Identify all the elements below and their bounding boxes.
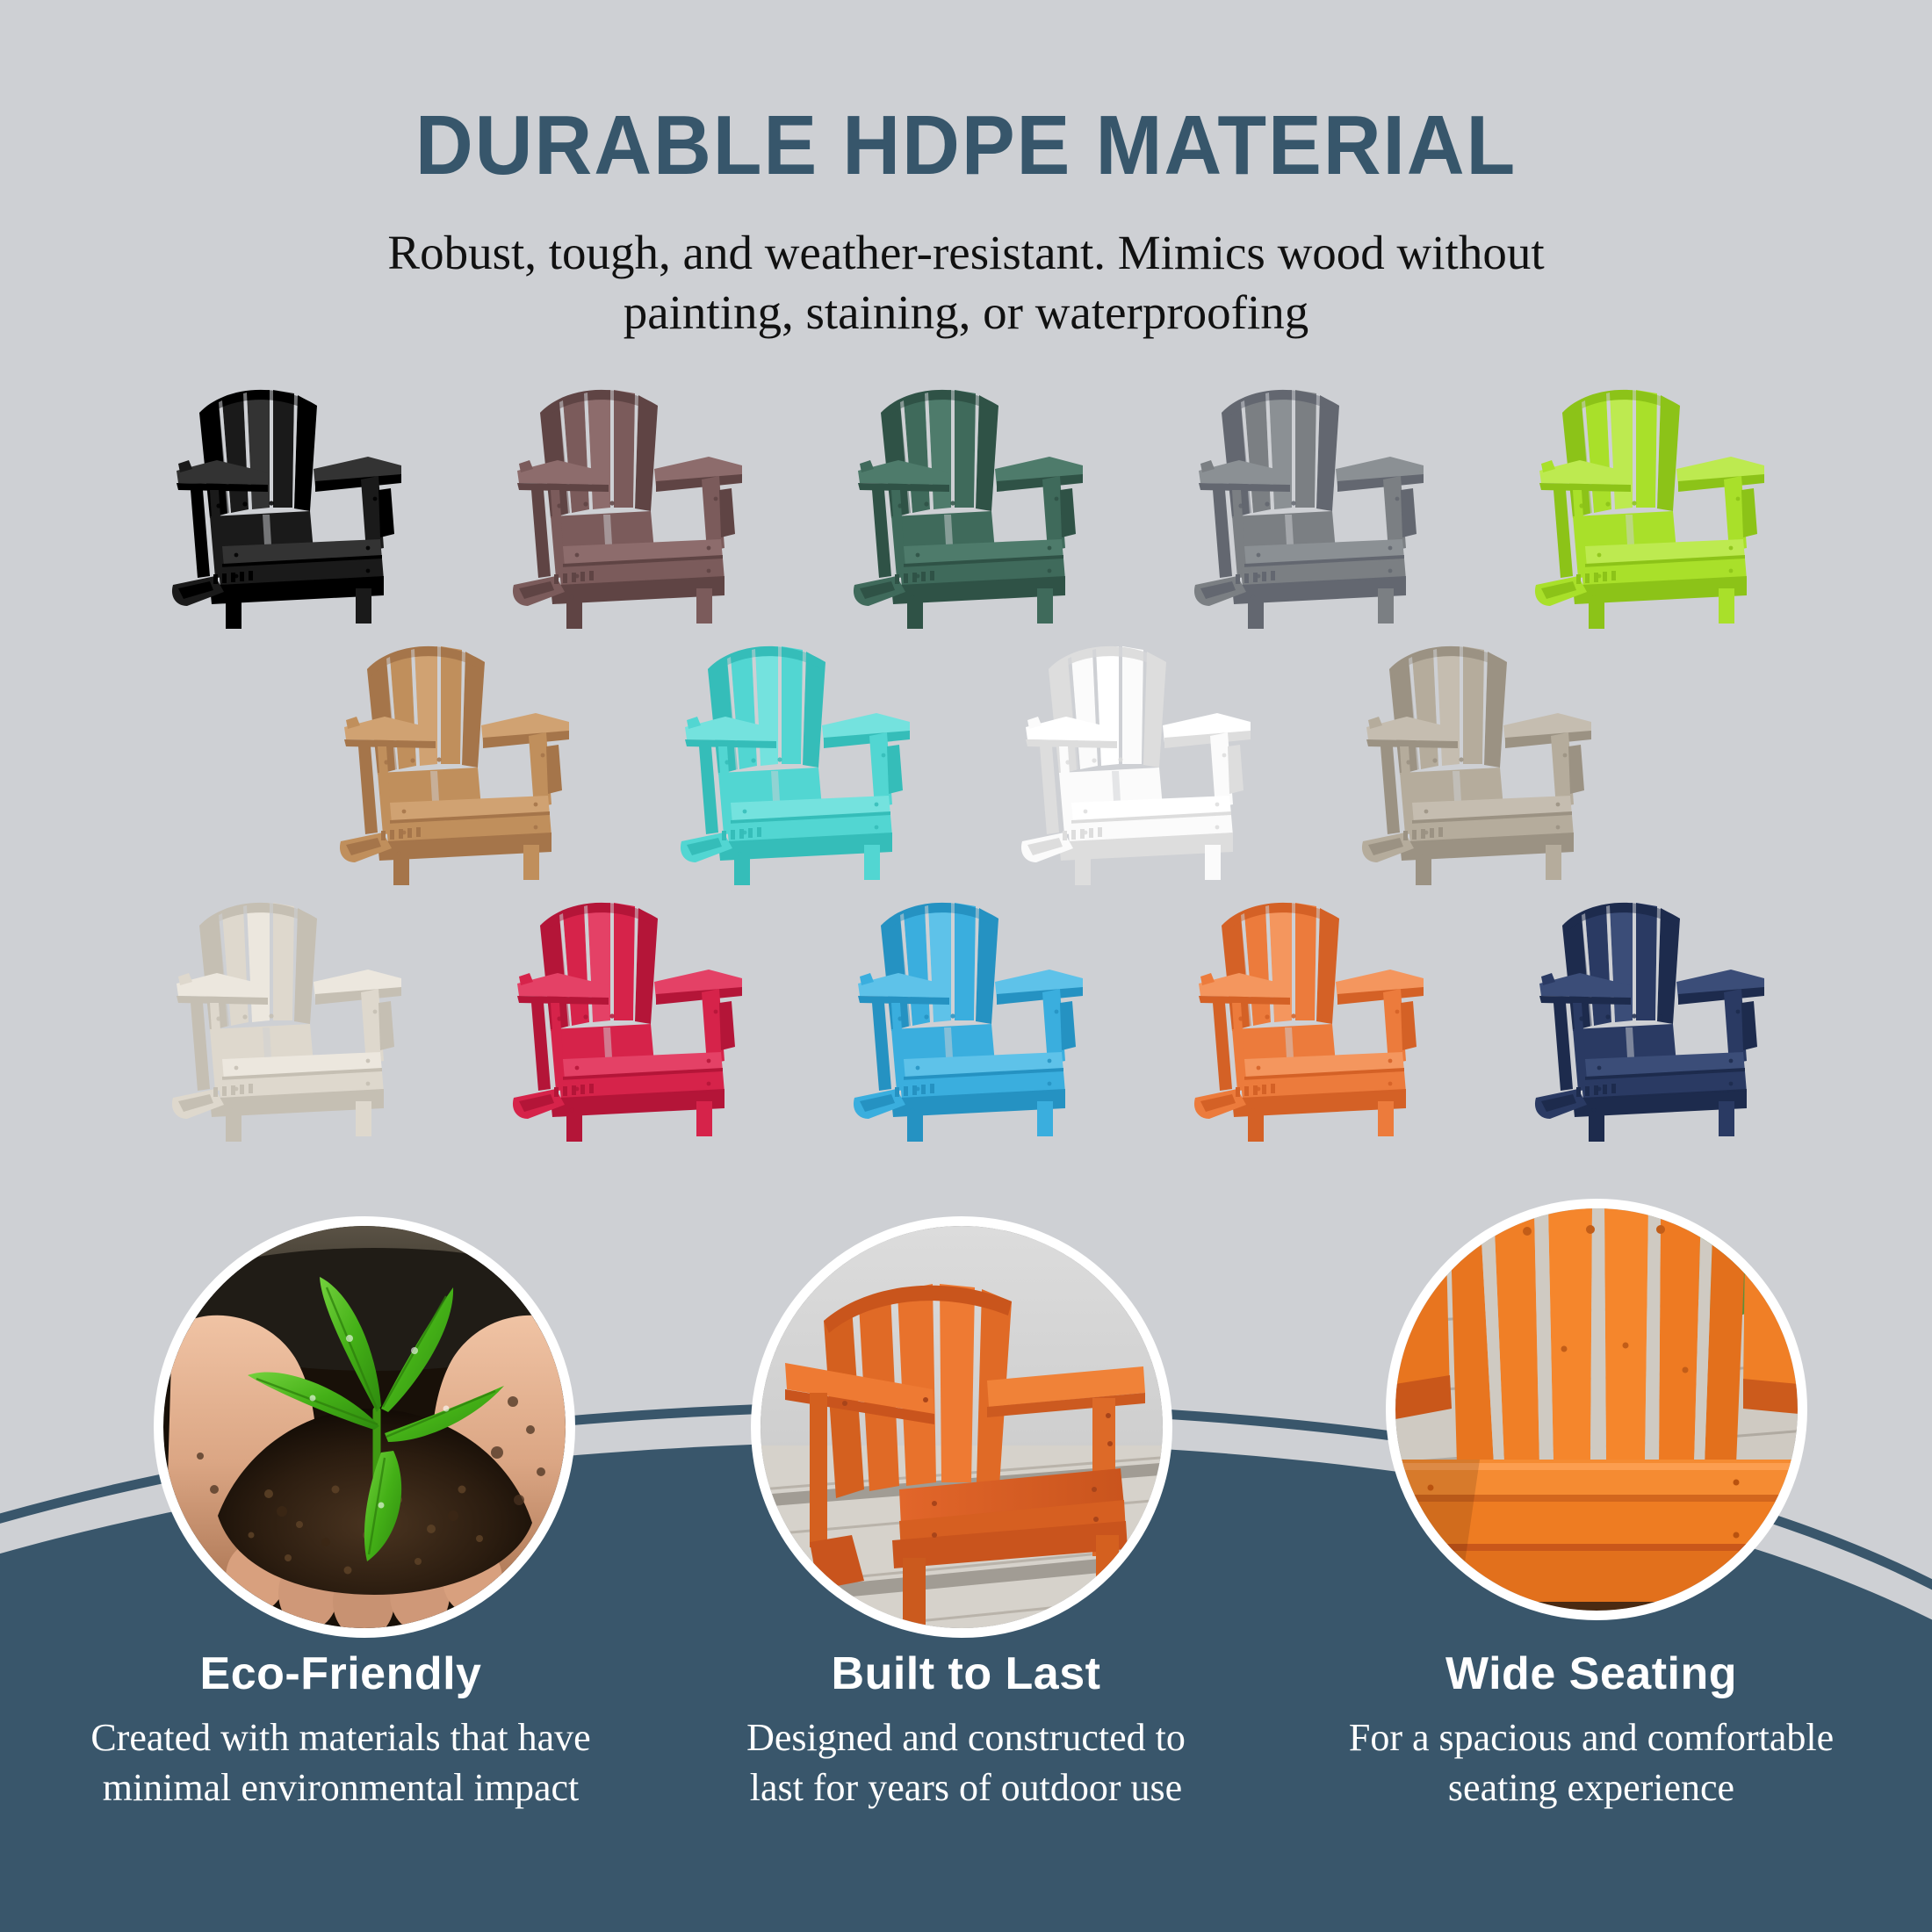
adirondack-chair-turquoise-icon bbox=[669, 615, 933, 887]
chair-swatch-ivory[interactable] bbox=[161, 871, 424, 1143]
chair-swatch-white[interactable] bbox=[1010, 615, 1273, 887]
chair-swatch-dark-green[interactable] bbox=[842, 358, 1106, 631]
infographic-canvas: DURABLE HDPE MATERIAL Robust, tough, and… bbox=[0, 0, 1932, 1932]
hands-holding-seedling-photo bbox=[163, 1226, 566, 1628]
orange-chair-wide-seat-closeup-photo bbox=[1395, 1208, 1798, 1611]
feature-photo-durability bbox=[751, 1216, 1172, 1638]
feature-eco-friendly: Eco-FriendlyCreated with materials that … bbox=[38, 1649, 644, 1813]
feature-title-wide-seating: Wide Seating bbox=[1288, 1649, 1894, 1699]
page-title: DURABLE HDPE MATERIAL bbox=[48, 0, 1884, 188]
adirondack-chair-dark-green-icon bbox=[842, 358, 1106, 631]
feature-desc-eco-friendly: Created with materials that haveminimal … bbox=[38, 1713, 644, 1813]
chair-swatch-black[interactable] bbox=[161, 358, 424, 631]
feature-text-row: Eco-FriendlyCreated with materials that … bbox=[0, 1642, 1932, 1932]
feature-desc-line-1: For a spacious and comfortable bbox=[1349, 1716, 1834, 1759]
adirondack-chair-lime-green-icon bbox=[1524, 358, 1787, 631]
adirondack-chair-teak-icon bbox=[328, 615, 592, 887]
chair-swatch-navy-blue[interactable] bbox=[1524, 871, 1787, 1143]
adirondack-chair-navy-blue-icon bbox=[1524, 871, 1787, 1143]
feature-desc-line-2: last for years of outdoor use bbox=[750, 1766, 1182, 1809]
chair-swatch-light-blue[interactable] bbox=[842, 871, 1106, 1143]
adirondack-chair-gray-icon bbox=[1183, 358, 1446, 631]
feature-photo-row bbox=[0, 1199, 1932, 1655]
chair-swatch-gray[interactable] bbox=[1183, 358, 1446, 631]
chair-swatch-red[interactable] bbox=[501, 871, 765, 1143]
feature-desc-wide-seating: For a spacious and comfortableseating ex… bbox=[1288, 1713, 1894, 1813]
feature-title-eco-friendly: Eco-Friendly bbox=[38, 1649, 644, 1699]
chair-swatch-taupe-gray[interactable] bbox=[1351, 615, 1614, 887]
feature-built-to-last: Built to LastDesigned and constructed to… bbox=[663, 1649, 1269, 1813]
chair-color-grid bbox=[0, 358, 1932, 1143]
subtitle-line-1: Robust, tough, and weather-resistant. Mi… bbox=[294, 223, 1638, 283]
adirondack-chair-taupe-gray-icon bbox=[1351, 615, 1614, 887]
feature-photo-wide-seat bbox=[1386, 1199, 1807, 1620]
feature-wide-seating: Wide SeatingFor a spacious and comfortab… bbox=[1288, 1649, 1894, 1813]
chair-swatch-turquoise[interactable] bbox=[669, 615, 933, 887]
feature-desc-line-2: minimal environmental impact bbox=[103, 1766, 580, 1809]
feature-desc-line-2: seating experience bbox=[1448, 1766, 1734, 1809]
adirondack-chair-brown-icon bbox=[501, 358, 765, 631]
chair-row-2 bbox=[11, 615, 1932, 887]
adirondack-chair-orange-icon bbox=[1183, 871, 1446, 1143]
feature-desc-built-to-last: Designed and constructed tolast for year… bbox=[663, 1713, 1269, 1813]
chair-swatch-teak[interactable] bbox=[328, 615, 592, 887]
adirondack-chair-black-icon bbox=[161, 358, 424, 631]
adirondack-chair-white-icon bbox=[1010, 615, 1273, 887]
orange-adirondack-chair-patio-photo bbox=[761, 1226, 1163, 1628]
subtitle-line-2: painting, staining, or waterproofing bbox=[294, 283, 1638, 342]
feature-title-built-to-last: Built to Last bbox=[663, 1649, 1269, 1699]
chair-swatch-lime-green[interactable] bbox=[1524, 358, 1787, 631]
chair-swatch-brown[interactable] bbox=[501, 358, 765, 631]
adirondack-chair-red-icon bbox=[501, 871, 765, 1143]
chair-swatch-orange[interactable] bbox=[1183, 871, 1446, 1143]
feature-desc-line-1: Created with materials that have bbox=[90, 1716, 590, 1759]
feature-desc-line-1: Designed and constructed to bbox=[746, 1716, 1186, 1759]
adirondack-chair-light-blue-icon bbox=[842, 871, 1106, 1143]
chair-row-3 bbox=[16, 871, 1932, 1143]
feature-photo-eco bbox=[154, 1216, 575, 1638]
page-subtitle: Robust, tough, and weather-resistant. Mi… bbox=[294, 188, 1638, 342]
header-block: DURABLE HDPE MATERIAL Robust, tough, and… bbox=[0, 0, 1932, 342]
chair-row-1 bbox=[16, 358, 1932, 631]
adirondack-chair-ivory-icon bbox=[161, 871, 424, 1143]
